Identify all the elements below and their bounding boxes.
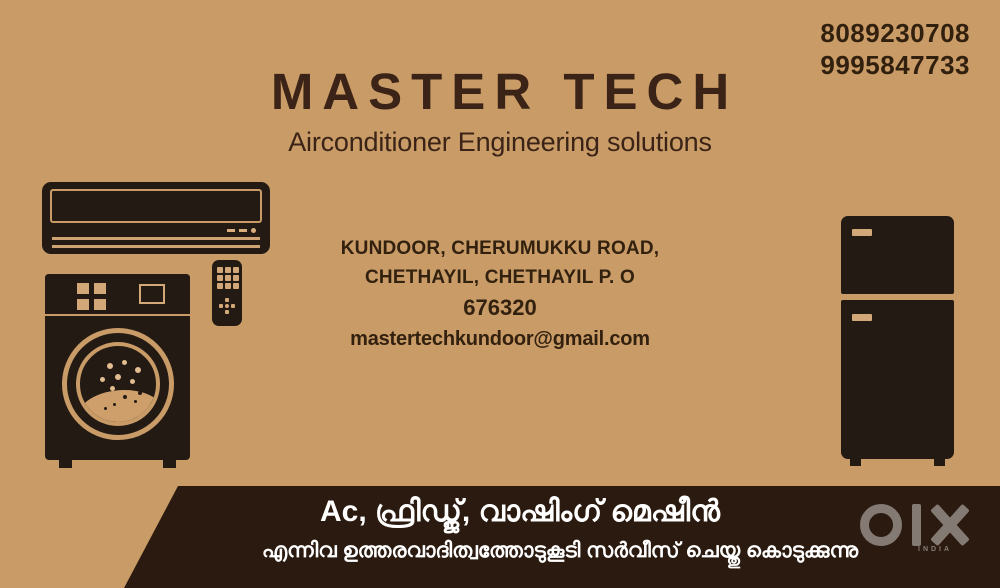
olx-watermark: INDIA: [860, 498, 976, 556]
drum-speck: [138, 391, 142, 395]
washing-machine-button: [94, 299, 106, 310]
olx-letter-x-icon: [928, 504, 972, 546]
remote-key: [233, 267, 239, 273]
remote-dpad-down: [225, 310, 229, 314]
services-banner: Ac, ഫ്രിഡ്ജ്, വാഷിംഗ് മെഷീൻ എന്നിവ ഉത്തര…: [0, 486, 1000, 588]
washing-machine-control-panel: [45, 274, 190, 316]
ac-louver-line: [52, 245, 260, 248]
remote-dpad-left: [219, 304, 223, 308]
refrigerator-foot: [850, 459, 861, 466]
washing-machine-icon: [45, 274, 190, 460]
remote-key: [217, 267, 223, 273]
remote-keypad: [217, 267, 239, 289]
remote-key: [217, 283, 223, 289]
refrigerator-icon: [841, 216, 954, 459]
olx-letter-o-icon: [860, 504, 902, 546]
olx-letter-l-icon: [912, 504, 921, 546]
brand-subtitle: Airconditioner Engineering solutions: [0, 129, 1000, 156]
ac-led-dot: [251, 228, 256, 233]
drum-bubble: [130, 379, 135, 384]
drum-bubble: [100, 377, 105, 382]
drum-speck: [129, 386, 133, 390]
drum-speck: [134, 400, 137, 403]
remote-dpad-center: [225, 304, 229, 308]
phone-number-primary: 8089230708: [820, 18, 970, 50]
refrigerator-foot: [934, 459, 945, 466]
air-conditioner-icon: [42, 182, 270, 254]
brand-title: MASTER TECH: [0, 66, 1000, 117]
drum-bubble: [122, 360, 127, 365]
remote-key: [225, 267, 231, 273]
ac-front-panel: [50, 189, 262, 223]
drum-bubble: [115, 374, 121, 380]
remote-key: [233, 283, 239, 289]
remote-control-icon: [212, 260, 242, 326]
brand-block: MASTER TECH Airconditioner Engineering s…: [0, 66, 1000, 156]
remote-dpad-up: [225, 298, 229, 302]
washing-machine-display: [139, 284, 165, 304]
olx-watermark-region: INDIA: [918, 546, 952, 553]
refrigerator-fridge-door: [841, 300, 954, 459]
drum-water-wave: [76, 390, 160, 426]
drum-bubble: [135, 367, 141, 373]
remote-dpad-right: [231, 304, 235, 308]
remote-key: [233, 275, 239, 281]
ac-indicator-lights: [227, 228, 256, 233]
drum-bubble: [107, 363, 113, 369]
remote-dpad: [219, 298, 235, 314]
remote-key: [225, 283, 231, 289]
ac-led-dash: [227, 229, 235, 232]
refrigerator-handle: [852, 229, 872, 236]
business-card: 8089230708 9995847733 MASTER TECH Aircon…: [0, 0, 1000, 588]
drum-speck: [104, 407, 107, 410]
washing-machine-button: [77, 283, 89, 294]
remote-key: [225, 275, 231, 281]
ac-led-dash: [239, 229, 247, 232]
drum-speck: [113, 403, 116, 406]
washing-machine-button: [94, 283, 106, 294]
washing-machine-button: [77, 299, 89, 310]
washing-machine-leg: [59, 460, 72, 468]
drum-speck: [123, 395, 127, 399]
washing-machine-buttons: [77, 283, 106, 310]
refrigerator-freezer-door: [841, 216, 954, 294]
remote-key: [217, 275, 223, 281]
washing-machine-drum: [76, 342, 160, 426]
refrigerator-handle: [852, 314, 872, 321]
washing-machine-leg: [163, 460, 176, 468]
ac-louver-line: [52, 237, 260, 240]
drum-speck: [144, 384, 147, 387]
